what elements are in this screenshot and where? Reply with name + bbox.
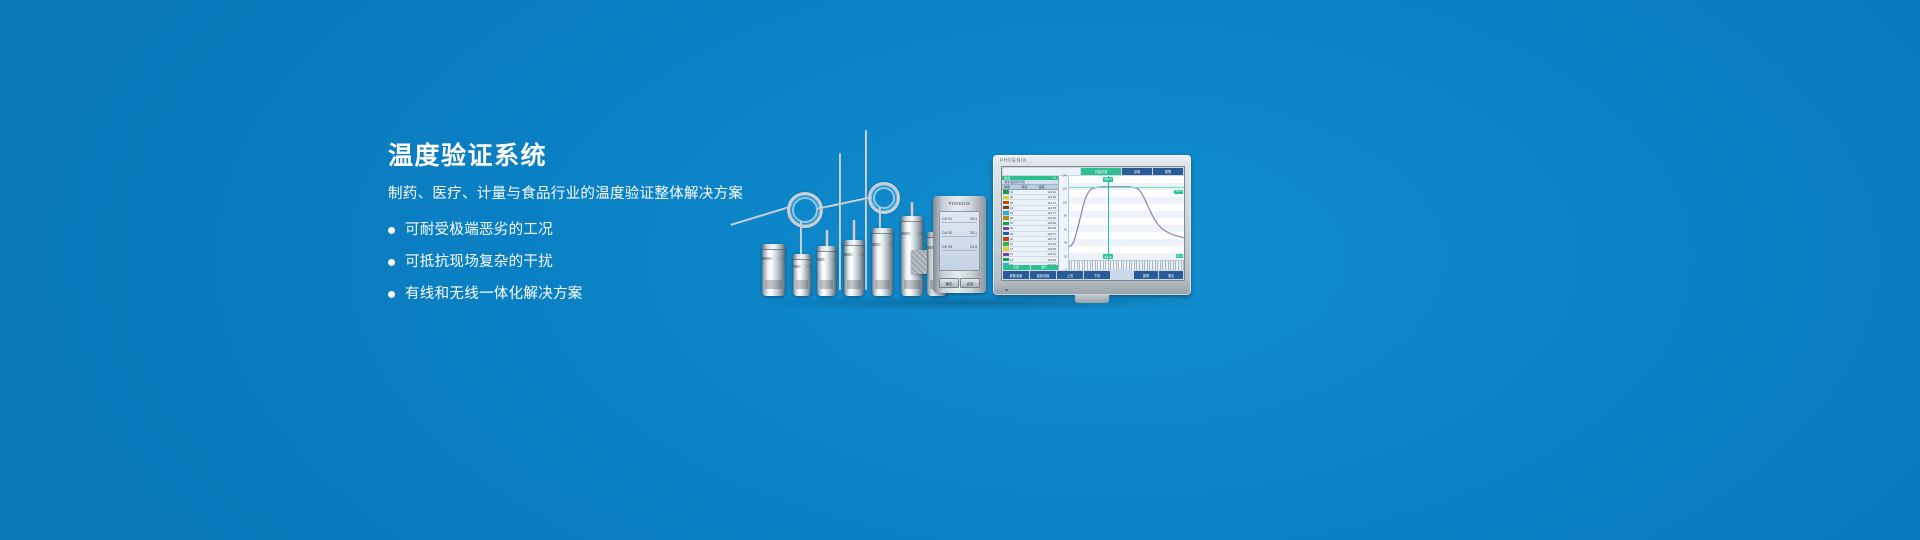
y-axis-tick-label: 20 bbox=[1064, 255, 1067, 258]
channel-number: 06 bbox=[1010, 216, 1047, 220]
toolbar-start-record-button[interactable]: 开始记录 bbox=[1081, 168, 1121, 175]
bottom-bar-spacer bbox=[1111, 271, 1133, 279]
chart-vertical-cursor[interactable] bbox=[1108, 176, 1109, 260]
monitor-stand bbox=[1075, 295, 1109, 303]
bullet-dot-icon bbox=[388, 259, 395, 266]
handheld-reading-value: 24.9 bbox=[970, 245, 977, 249]
y-axis-tick-label: 0 bbox=[1066, 269, 1067, 272]
needle-probe-tall bbox=[865, 130, 867, 290]
channel-color-swatch bbox=[1003, 190, 1009, 193]
logger-label bbox=[847, 280, 861, 289]
page-down-button[interactable]: 下页 bbox=[1084, 271, 1110, 279]
exit-button[interactable]: 退出 bbox=[1159, 271, 1183, 279]
curve-settings-button[interactable]: 曲线设置 bbox=[1030, 271, 1056, 279]
logger-label bbox=[796, 280, 809, 289]
logger-cap bbox=[817, 246, 836, 252]
handheld-reading-label: CH 02 bbox=[942, 231, 952, 235]
channel-number: 03 bbox=[1010, 201, 1047, 205]
logger-band bbox=[901, 232, 923, 235]
y-axis-tick-label: 80 bbox=[1064, 215, 1067, 218]
feature-bullet-1-label: 可耐受极端恶劣的工况 bbox=[405, 220, 553, 240]
toolbar-spacer bbox=[1003, 168, 1080, 175]
data-logger-5 bbox=[872, 228, 893, 296]
handheld-reading-value: 25.1 bbox=[970, 231, 977, 235]
coil-sensor-wire-left bbox=[731, 207, 789, 226]
y-axis-tick-label: 60 bbox=[1064, 228, 1067, 231]
cursor-tag-bottom[interactable]: 游标 B bbox=[1103, 254, 1113, 259]
y-axis-tick-label: 100 bbox=[1063, 201, 1067, 204]
channel-number: 02 bbox=[1010, 195, 1047, 199]
handheld-confirm-button[interactable]: 确定 bbox=[939, 278, 959, 288]
monitor-screen: 开始记录 设置 报警 通道 ℃ 通道温度实时值 颜色 通道 bbox=[1001, 166, 1185, 281]
channel-value: 124.68 bbox=[1047, 226, 1057, 230]
chart-x-tick-marks bbox=[1069, 261, 1184, 270]
channel-value: 124.52 bbox=[1047, 258, 1057, 262]
logger-cap bbox=[844, 240, 864, 246]
select-all-button[interactable]: 全选 bbox=[1003, 265, 1030, 269]
channel-number: 13 bbox=[1010, 252, 1047, 256]
channel-value: 124.42 bbox=[1047, 190, 1057, 194]
logger-band bbox=[872, 243, 893, 246]
channel-number: 04 bbox=[1010, 206, 1047, 210]
cursor-tag-top[interactable]: 游标 A bbox=[1103, 177, 1113, 182]
channel-number: 08 bbox=[1010, 226, 1047, 230]
channel-color-swatch bbox=[1003, 253, 1009, 256]
logger-cap bbox=[901, 216, 923, 222]
software-bottom-bar: 参数设置 曲线设置 上页 下页 报表 退出 bbox=[1002, 270, 1184, 280]
page-up-button[interactable]: 上页 bbox=[1057, 271, 1083, 279]
report-button[interactable]: 报表 bbox=[1134, 271, 1158, 279]
cursor-tag-right-top: 121.6 bbox=[1174, 190, 1183, 194]
channel-number: 07 bbox=[1010, 221, 1047, 225]
product-banner: 温度验证系统 制药、医疗、计量与食品行业的温度验证整体解决方案 可耐受极端恶劣的… bbox=[0, 0, 1920, 540]
channel-color-swatch bbox=[1003, 237, 1009, 240]
logger-cap bbox=[762, 244, 785, 250]
chart-panel: 020406080100120140 游标 A 游标 B 121.6 25.4 bbox=[1059, 176, 1184, 270]
y-axis-tick-label: 140 bbox=[1063, 175, 1067, 178]
channel-number: 11 bbox=[1010, 242, 1047, 246]
handheld-reading-label: CH 03 bbox=[942, 245, 952, 249]
y-axis-tick-label: 120 bbox=[1063, 188, 1067, 191]
chart-plot-area[interactable]: 游标 A 游标 B 121.6 25.4 bbox=[1069, 176, 1184, 260]
chart-series-svg bbox=[1069, 176, 1184, 260]
channel-color-swatch bbox=[1003, 201, 1009, 204]
channel-table-subtitle-label: 通道温度实时值 bbox=[1004, 180, 1025, 184]
data-logger-3 bbox=[817, 246, 836, 296]
column-header-value: 温度 bbox=[1039, 185, 1056, 189]
channel-table-rows[interactable]: 01124.4202124.8603124.7104124.5505124.77… bbox=[1002, 190, 1058, 265]
coil-sensor-right bbox=[868, 182, 900, 214]
logger-label bbox=[875, 280, 890, 289]
channel-value: 124.63 bbox=[1047, 216, 1057, 220]
cursor-tag-right-bottom: 25.4 bbox=[1176, 254, 1183, 258]
porous-sensor-block bbox=[911, 250, 927, 274]
bullet-dot-icon bbox=[388, 291, 395, 298]
logger-label bbox=[765, 280, 782, 289]
channel-value: 124.83 bbox=[1047, 247, 1057, 251]
logger-label bbox=[820, 280, 834, 289]
channel-value: 124.80 bbox=[1047, 221, 1057, 225]
data-logger-2 bbox=[793, 254, 811, 296]
software-toolbar: 开始记录 设置 报警 bbox=[1002, 167, 1184, 176]
handheld-reading-value: 25.3 bbox=[970, 217, 977, 221]
logger-band bbox=[793, 265, 811, 268]
needle-probe-mid bbox=[839, 153, 841, 290]
channel-table: 通道 ℃ 通道温度实时值 颜色 通道 温度 01124.4202124.8603… bbox=[1002, 176, 1059, 270]
channel-color-swatch bbox=[1003, 227, 1009, 230]
feature-bullet-2-label: 可抵抗现场复杂的干扰 bbox=[405, 252, 553, 272]
logger-cap bbox=[793, 254, 811, 260]
logger-cap bbox=[872, 228, 893, 234]
logger-label bbox=[904, 280, 920, 289]
channel-value: 124.57 bbox=[1047, 232, 1057, 236]
channel-value: 124.61 bbox=[1047, 242, 1057, 246]
handheld-brand-label: PHOENIX bbox=[933, 201, 986, 206]
channel-color-swatch bbox=[1003, 211, 1009, 214]
chart-horizontal-cursor[interactable] bbox=[1069, 187, 1184, 188]
software-body: 通道 ℃ 通道温度实时值 颜色 通道 温度 01124.4202124.8603… bbox=[1002, 176, 1184, 270]
channel-value: 124.86 bbox=[1047, 195, 1057, 199]
toolbar-alarm-button[interactable]: 报警 bbox=[1153, 168, 1183, 175]
column-header-channel: 通道 bbox=[1021, 185, 1038, 189]
coil-sensor-wire-right bbox=[817, 196, 872, 210]
handheld-reading-row: CH 01 25.3 bbox=[942, 216, 977, 223]
channel-number: 14 bbox=[1010, 258, 1047, 262]
bullet-dot-icon bbox=[388, 227, 395, 234]
param-settings-button[interactable]: 参数设置 bbox=[1003, 271, 1029, 279]
toolbar-settings-button[interactable]: 设置 bbox=[1122, 168, 1152, 175]
channel-number: 10 bbox=[1010, 237, 1047, 241]
column-header-color: 颜色 bbox=[1004, 185, 1021, 189]
channel-value: 124.74 bbox=[1047, 237, 1057, 241]
channel-number: 01 bbox=[1010, 190, 1047, 194]
data-logger-4 bbox=[844, 240, 864, 296]
handheld-back-button[interactable]: 返回 bbox=[960, 278, 980, 288]
channel-value: 124.77 bbox=[1047, 211, 1057, 215]
channel-value: 124.71 bbox=[1047, 201, 1057, 205]
logger-band bbox=[844, 253, 864, 256]
handheld-reading-row: CH 03 24.9 bbox=[942, 244, 977, 251]
handheld-screen: CH 01 25.3 CH 02 25.1 CH 03 24.9 bbox=[939, 211, 980, 271]
channel-value: 124.55 bbox=[1047, 206, 1057, 210]
handheld-reading-label: CH 01 bbox=[942, 217, 952, 221]
channel-number: 05 bbox=[1010, 211, 1047, 215]
channel-color-swatch bbox=[1003, 196, 1009, 199]
channel-color-swatch bbox=[1003, 258, 1009, 261]
power-led-icon bbox=[1005, 289, 1008, 292]
feature-bullet-3-label: 有线和无线一体化解决方案 bbox=[405, 284, 583, 304]
y-axis-tick-label: 40 bbox=[1064, 242, 1067, 245]
channel-number: 12 bbox=[1010, 247, 1047, 251]
channel-color-swatch bbox=[1003, 232, 1009, 235]
channel-value: 124.70 bbox=[1047, 252, 1057, 256]
monitor-brand-label: PHOENIX bbox=[1000, 158, 1027, 164]
channel-number: 09 bbox=[1010, 232, 1047, 236]
channel-color-swatch bbox=[1003, 216, 1009, 219]
chart-line-series bbox=[1069, 187, 1184, 247]
handheld-reader[interactable]: PHOENIX CH 01 25.3 CH 02 25.1 CH 03 24.9… bbox=[933, 196, 986, 293]
validation-software-monitor: PHOENIX 开始记录 设置 报警 通道 ℃ 通道温度实时值 bbox=[993, 155, 1191, 295]
channel-color-swatch bbox=[1003, 242, 1009, 245]
logger-band bbox=[762, 257, 785, 260]
channel-color-swatch bbox=[1003, 206, 1009, 209]
channel-color-swatch bbox=[1003, 222, 1009, 225]
channel-color-swatch bbox=[1003, 247, 1009, 250]
chart-x-axis bbox=[1069, 260, 1184, 270]
logger-band bbox=[817, 258, 836, 261]
statistics-button[interactable]: 统计 bbox=[1031, 265, 1058, 269]
data-logger-1 bbox=[762, 244, 785, 296]
coil-sensor-left bbox=[787, 192, 823, 228]
chart-y-axis: 020406080100120140 bbox=[1059, 176, 1069, 270]
handheld-reading-row: CH 02 25.1 bbox=[942, 230, 977, 237]
logger-stem bbox=[853, 220, 856, 242]
